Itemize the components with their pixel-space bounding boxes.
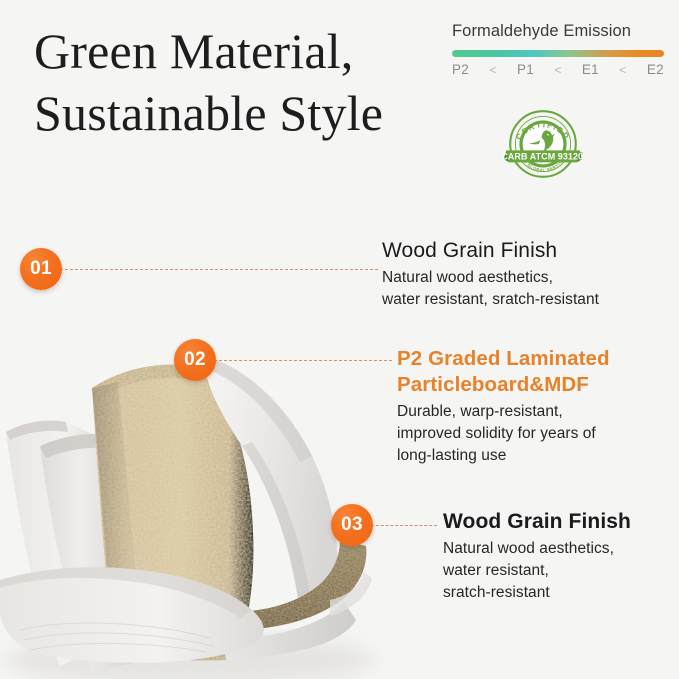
badge-banner: CARB ATCM 93120 TM bbox=[503, 150, 583, 162]
callout-03-body-line-2: water resistant, bbox=[443, 560, 678, 582]
callout-01-body-line-1: Natural wood aesthetics, bbox=[382, 267, 672, 289]
badge-trademark: TM bbox=[579, 151, 583, 155]
formaldehyde-emission-scale: Formaldehyde Emission P2 < P1 < E1 < E2 bbox=[452, 22, 664, 77]
page-title: Green Material, Sustainable Style bbox=[34, 20, 464, 144]
title-line-1: Green Material, bbox=[34, 20, 464, 82]
product-infographic: Green Material, Sustainable Style Formal… bbox=[0, 0, 679, 679]
callout-block-03: Wood Grain Finish Natural wood aesthetic… bbox=[443, 509, 678, 604]
grade-p2: P2 bbox=[452, 62, 469, 77]
callout-03-body-line-3: sratch-resistant bbox=[443, 582, 678, 604]
title-line-2: Sustainable Style bbox=[34, 82, 464, 144]
callout-02-heading-line-1: P2 Graded Laminated bbox=[397, 347, 610, 370]
product-panel-illustration bbox=[0, 160, 440, 679]
grade-p1: P1 bbox=[517, 62, 534, 77]
emission-gradient-bar bbox=[452, 50, 664, 57]
callout-02-body: Durable, warp-resistant, improved solidi… bbox=[397, 401, 672, 467]
emission-scale-label: Formaldehyde Emission bbox=[452, 22, 664, 41]
emission-grade-row: P2 < P1 < E1 < E2 bbox=[452, 62, 664, 77]
callout-01-body-line-2: water resistant, sratch-resistant bbox=[382, 289, 672, 311]
grade-separator-3: < bbox=[619, 63, 626, 77]
callout-02-body-line-1: Durable, warp-resistant, bbox=[397, 401, 672, 423]
callout-01-body: Natural wood aesthetics, water resistant… bbox=[382, 267, 672, 311]
callout-03-heading: Wood Grain Finish bbox=[443, 509, 678, 535]
callout-01-heading: Wood Grain Finish bbox=[382, 238, 672, 264]
leader-line-02 bbox=[214, 360, 392, 361]
grade-e1: E1 bbox=[582, 62, 599, 77]
callout-02-heading-line-2: Particleboard&MDF bbox=[397, 373, 589, 396]
grade-separator-2: < bbox=[554, 63, 561, 77]
callout-03-body-line-1: Natural wood aesthetics, bbox=[443, 538, 678, 560]
callout-02-body-line-2: improved solidity for years of bbox=[397, 423, 672, 445]
carb-certification-badge: CERTIFIED SCS GLOBAL SERVICES CARB ATCM … bbox=[503, 104, 583, 184]
callout-02-body-line-3: long-lasting use bbox=[397, 445, 672, 467]
grade-separator-1: < bbox=[489, 63, 496, 77]
leader-line-01 bbox=[60, 269, 378, 270]
grade-e2: E2 bbox=[647, 62, 664, 77]
callout-02-heading: P2 Graded Laminated Particleboard&MDF bbox=[397, 346, 672, 398]
badge-banner-text: CARB ATCM 93120 bbox=[503, 152, 583, 162]
leader-line-03 bbox=[371, 525, 437, 526]
callout-marker-03[interactable]: 03 bbox=[331, 504, 373, 546]
callout-marker-02[interactable]: 02 bbox=[174, 339, 216, 381]
callout-block-01: Wood Grain Finish Natural wood aesthetic… bbox=[382, 238, 672, 311]
callout-block-02: P2 Graded Laminated Particleboard&MDF Du… bbox=[397, 346, 672, 467]
callout-marker-01[interactable]: 01 bbox=[20, 248, 62, 290]
callout-03-body: Natural wood aesthetics, water resistant… bbox=[443, 538, 678, 604]
